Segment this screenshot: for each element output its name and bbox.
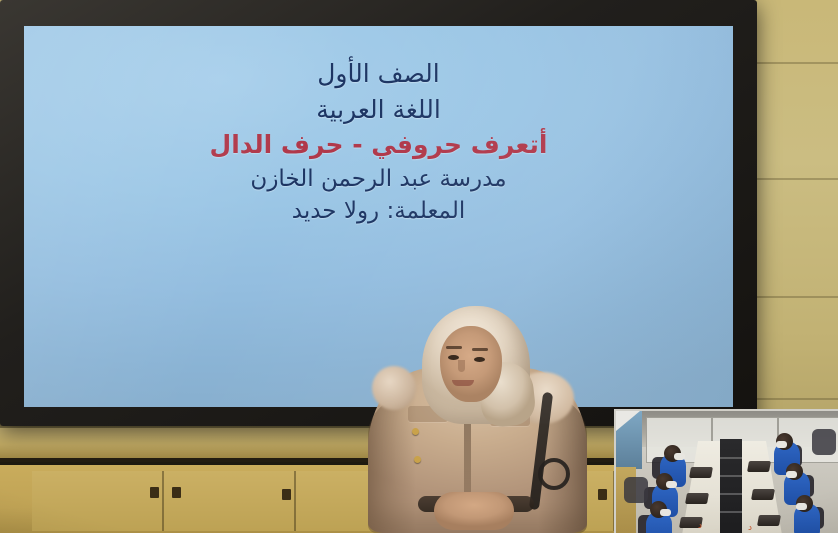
bag-ring: [538, 458, 570, 490]
pip-face-mask: [660, 509, 671, 516]
pip-stack-segment: [720, 511, 742, 513]
teacher-face: [440, 326, 502, 402]
slide-text-block: الصف الأول اللغة العربية أتعرف حروفي - ح…: [24, 56, 733, 228]
cabinet-handle[interactable]: [282, 489, 291, 500]
pip-device: [747, 461, 771, 472]
pip-face-mask: [776, 441, 787, 448]
slide-line-topic: أتعرف حروفي - حرف الدال: [24, 127, 733, 163]
coat-fur-left: [372, 366, 416, 410]
pip-stack-segment: [720, 493, 742, 495]
pip-face-mask: [786, 471, 797, 478]
pip-window-panel: [616, 411, 642, 469]
cabinet-handle[interactable]: [172, 487, 181, 498]
eye-right: [474, 357, 485, 362]
pip-device: [751, 489, 775, 500]
coat-button: [412, 428, 419, 435]
coat-button: [414, 456, 421, 463]
pip-desk-marking: د: [748, 523, 752, 533]
slide-line-teacher: المعلمة: رولا حديد: [24, 195, 733, 228]
pip-face-mask: [674, 453, 685, 460]
eyebrow-right: [472, 348, 488, 351]
pip-chair: [812, 429, 836, 455]
nose: [458, 360, 465, 372]
pip-device: [685, 493, 709, 504]
mouth: [452, 380, 474, 386]
pip-device: [689, 467, 713, 478]
pip-device: [757, 515, 781, 526]
pip-face-mask: [666, 481, 677, 488]
pip-stack-segment: [720, 457, 742, 459]
cabinet-door[interactable]: [32, 471, 164, 531]
teacher-figure: [360, 300, 595, 533]
pip-window-glare: [616, 411, 640, 431]
slide-line-grade: الصف الأول: [24, 56, 733, 92]
teacher-hands: [434, 492, 514, 530]
pip-classroom-inset[interactable]: د د: [614, 409, 838, 533]
pip-stack-segment: [720, 475, 742, 477]
video-frame: الصف الأول اللغة العربية أتعرف حروفي - ح…: [0, 0, 838, 533]
pip-face-mask: [796, 503, 807, 510]
pip-desk-marking: د: [698, 521, 702, 531]
pip-center-equipment-stack: [720, 439, 742, 533]
eyebrow-left: [446, 346, 462, 349]
cabinet-handle[interactable]: [150, 487, 159, 498]
pip-chair: [624, 477, 648, 503]
slide-line-school: مدرسة عبد الرحمن الخازن: [24, 163, 733, 196]
slide-line-subject: اللغة العربية: [24, 92, 733, 128]
cabinet-handle[interactable]: [598, 489, 607, 500]
cabinet-door[interactable]: [164, 471, 296, 531]
